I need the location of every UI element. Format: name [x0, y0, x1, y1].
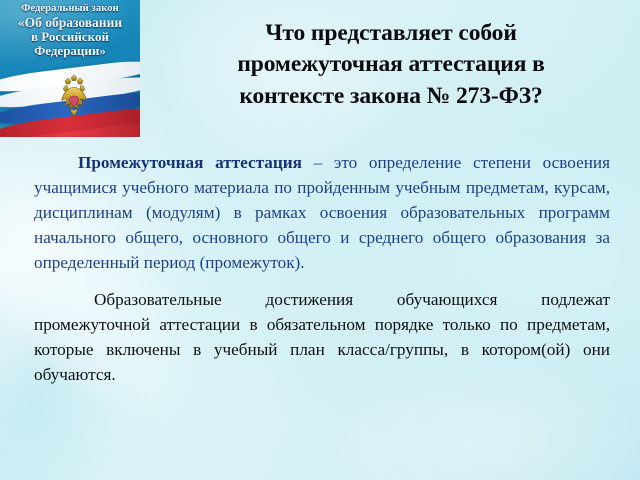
- book-cover-line-1: Федеральный закон: [4, 3, 136, 15]
- book-cover-line-2: «Об образовании: [4, 15, 136, 30]
- definition-paragraph: Промежуточная аттестация – это определен…: [34, 150, 610, 275]
- slide-body: Промежуточная аттестация – это определен…: [34, 150, 610, 387]
- slide-title-line-3: контексте закона № 273-ФЗ?: [152, 81, 630, 112]
- presentation-slide: Федеральный закон «Об образовании в Росс…: [0, 0, 640, 480]
- double-headed-eagle-emblem: [52, 74, 96, 122]
- book-cover-line-3: в Российской: [4, 30, 136, 45]
- slide-title: Что представляет собой промежуточная атт…: [152, 18, 630, 112]
- federal-law-book-cover-image: Федеральный закон «Об образовании в Росс…: [0, 0, 140, 137]
- definition-term: Промежуточная аттестация: [78, 153, 302, 172]
- requirements-paragraph: Образовательные достижения обучающихся п…: [34, 287, 610, 387]
- slide-title-line-2: промежуточная аттестация в: [152, 49, 630, 80]
- book-cover-title: Федеральный закон «Об образовании в Росс…: [0, 3, 140, 59]
- slide-title-line-1: Что представляет собой: [152, 18, 630, 49]
